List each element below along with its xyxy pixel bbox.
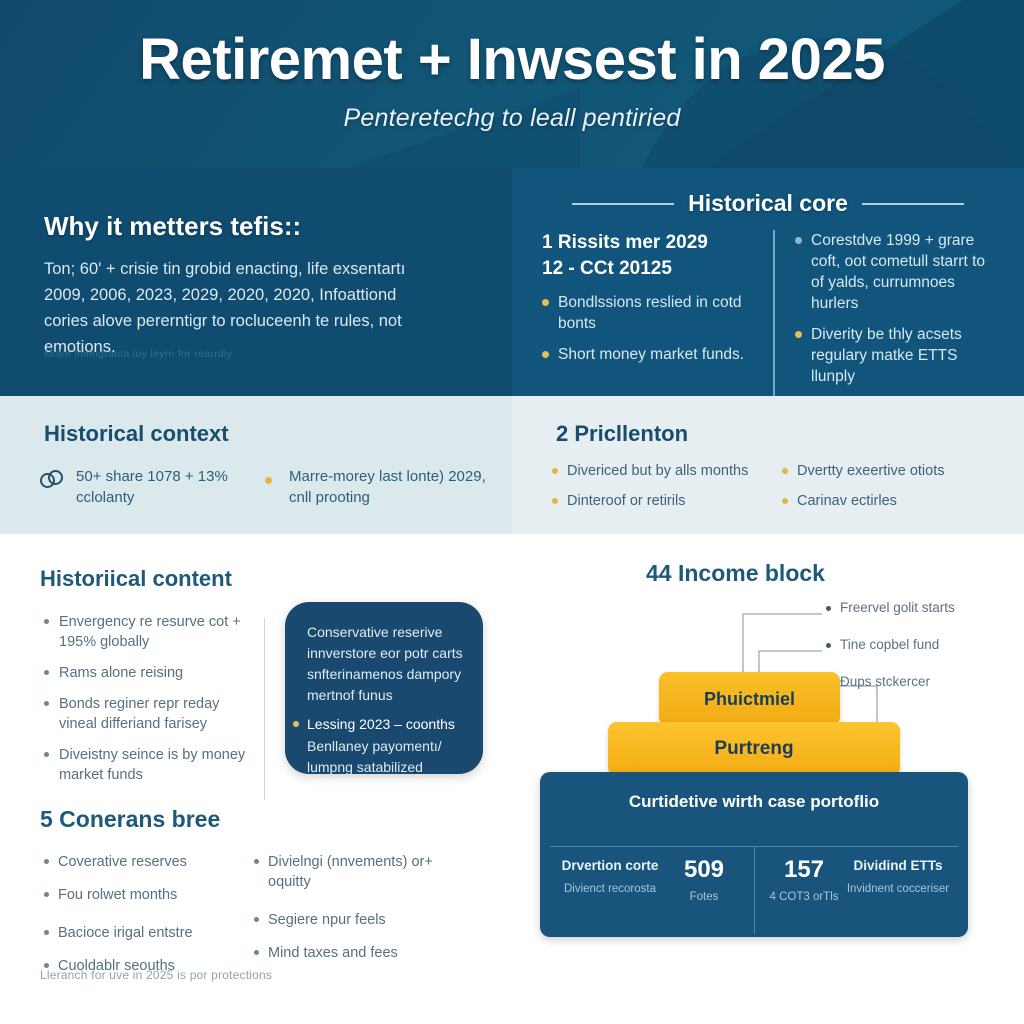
list-item: Diveistny seince is by money market fund…: [44, 745, 249, 785]
conservative-reserve-card: Conservative reserive innverstore eor po…: [285, 602, 483, 774]
core-right-bullet-0: Diverity be thly acsets regulary matke E…: [811, 324, 1002, 387]
vertical-divider: [264, 618, 265, 800]
conerans-right-1: Segiere npur feels: [268, 910, 386, 930]
stat-label-0: Drvertion corte Divienct recorosta: [554, 856, 666, 897]
conerans-heading: 5 Conerans bree: [40, 806, 220, 833]
stat-block-1: Dividind ETTs Invidnent cocceriser 157 4…: [754, 856, 968, 905]
historical-core-title: Historical core: [688, 190, 848, 217]
bullet-dot-icon: [795, 331, 802, 338]
bullet-dot-icon: [44, 930, 49, 935]
callout-2: Đups stckercer: [826, 674, 1024, 711]
core-left-bullet-1: Short money market funds.: [558, 344, 744, 365]
bullet-dot-icon: [254, 917, 259, 922]
historical-core-header: Historical core: [512, 190, 1024, 217]
why-note: Moke Immigranta luy leyrn for rearrdiy: [44, 348, 434, 360]
precllenton-panel: 2 Pricllenton Divericed but by alls mont…: [512, 396, 1024, 534]
list-item: Fou rolwet months: [44, 885, 240, 905]
historical-content-heading: Historiical content: [40, 566, 232, 592]
precllenton-heading: 2 Pricllenton: [556, 421, 688, 447]
callout-label-0: Freervel golit starts: [840, 600, 955, 615]
stat-value-sub-1: 4 COT3 orTls: [766, 890, 842, 905]
precllenton-left-0: Divericed but by alls months: [567, 462, 748, 481]
list-item: Diverity be thly acsets regulary matke E…: [795, 324, 1002, 387]
pyramid-block-middle: Purtreng: [608, 722, 900, 776]
bullet-dot-icon: [782, 468, 788, 474]
navy-card-tail: Benllaney payomentı/ lumpng satabilized: [307, 736, 475, 778]
hcontent-bullet-1: Rams alone reising: [59, 663, 183, 683]
conerans-left-2: Bacioce irigal entstre: [58, 923, 193, 943]
core-left-line1: 1 Rissits mer 2029: [542, 230, 763, 256]
stat-label-text-0: Drvertion corte: [562, 858, 659, 873]
bullet-dot-icon: [826, 606, 831, 611]
bullet-dot-icon: [552, 468, 558, 474]
historical-context-heading: Historical context: [44, 421, 229, 447]
bullet-dot-icon: [293, 721, 299, 727]
bullet-dot-icon: [254, 950, 259, 955]
dark-section-row: Why it metters tefis:: Ton; 60' + crisie…: [0, 168, 1024, 396]
pyramid-callouts: Freervel golit starts Tine copbel fund Đ…: [826, 600, 1024, 711]
bullet-dot-icon: [795, 237, 802, 244]
bullet-dot-icon: [265, 470, 279, 492]
bullet-dot-icon: [552, 498, 558, 504]
precllenton-left-1: Dinteroof or retirils: [567, 492, 685, 511]
why-body: Ton; 60' + crisie tin grobid enacting, l…: [44, 256, 444, 360]
context-right-text: Marre-morey last lonte) 2029, cnll proot…: [289, 466, 490, 508]
infographic-page: Retiremet + Inwsest in 2025 Penteretechg…: [0, 0, 1024, 1024]
historical-context-columns: 50+ share 1078 + 13% cclolanty Marre-mor…: [40, 466, 490, 508]
bullet-dot-icon: [542, 351, 549, 358]
bullet-dot-icon: [44, 619, 49, 624]
bullet-dot-icon: [826, 643, 831, 648]
footer-note: Lleranch for uve in 2025 is por protecti…: [40, 968, 272, 982]
list-item: Coverative reserves: [44, 852, 240, 872]
overlapping-circles-icon: [40, 470, 66, 492]
list-item: Dinteroof or retirils: [552, 492, 782, 511]
pyramid-block-base: Curtidetive wirth case portoflio Drverti…: [540, 772, 968, 937]
hcontent-bullet-3: Diveistny seince is by money market fund…: [59, 745, 249, 785]
light-band-row: Historical context 50+ share 1078 + 13% …: [0, 396, 1024, 534]
bullet-dot-icon: [44, 892, 49, 897]
bullet-dot-icon: [44, 701, 49, 706]
stat-value-text-0: 509: [684, 856, 724, 883]
precllenton-right-1: Carinav ectirles: [797, 492, 897, 511]
bullet-dot-icon: [782, 498, 788, 504]
precllenton-col-right: Dvertty exeertive otiots Carinav ectirle…: [782, 462, 1012, 522]
navy-card-block: Conservative reserive innverstore eor po…: [307, 622, 469, 706]
list-item: Bonds reginer repr reday vineal differia…: [44, 694, 249, 734]
stat-value-1: 157 4 COT3 orTls: [766, 856, 842, 905]
stat-label-sub-0: Divienct recorosta: [554, 882, 666, 897]
stat-value-0: 509 Fotes: [666, 856, 742, 905]
stat-label-sub-1: Invidnent cocceriser: [842, 882, 954, 897]
context-left-text: 50+ share 1078 + 13% cclolanty: [76, 466, 265, 508]
pyramid-stats: Drvertion corte Divienct recorosta 509 F…: [540, 856, 968, 905]
list-item: Divericed but by alls months: [552, 462, 782, 481]
bullet-dot-icon: [254, 859, 259, 864]
navy-card-bullet-row: Lessing 2023 – coonths: [293, 714, 473, 735]
historical-core-panel: Historical core 1 Rissits mer 2029 12 - …: [512, 168, 1024, 396]
stat-value-text-1: 157: [784, 856, 824, 883]
navy-card-bullet: Lessing 2023 – coonths: [307, 714, 455, 735]
callout-1: Tine copbel fund: [826, 637, 1024, 674]
list-item: Short money market funds.: [542, 344, 763, 365]
precllenton-columns: Divericed but by alls months Dinteroof o…: [552, 462, 1012, 522]
stat-label-text-1: Dividind ETTs: [853, 858, 942, 873]
stat-block-0: Drvertion corte Divienct recorosta 509 F…: [540, 856, 754, 905]
list-item: Carinav ectirles: [782, 492, 1012, 511]
why-it-matters-panel: Why it metters tefis:: Ton; 60' + crisie…: [0, 168, 512, 396]
pyramid-block-top: Phuictmiel: [659, 672, 840, 726]
why-heading: Why it metters tefis::: [44, 211, 301, 242]
core-left-bullet-0: Bondlssions reslied in cotd bonts: [558, 292, 763, 334]
list-item: Mind taxes and fees: [254, 943, 450, 963]
bullet-dot-icon: [44, 752, 49, 757]
conerans-right-2: Mind taxes and fees: [268, 943, 398, 963]
hcontent-bullet-0: Envergency re resurve cot + 195% globall…: [59, 612, 249, 652]
page-subtitle: Penteretechg to leall pentiried: [0, 104, 1024, 133]
callout-0: Freervel golit starts: [826, 600, 1024, 637]
page-title: Retiremet + Inwsest in 2025: [0, 26, 1024, 93]
precllenton-col-left: Divericed but by alls months Dinteroof o…: [552, 462, 782, 522]
pyramid-base-title: Curtidetive wirth case portoflio: [540, 790, 968, 814]
income-block-heading: 44 Income block: [646, 560, 825, 587]
list-item: Dvertty exeertive otiots: [782, 462, 1012, 481]
list-item: Corestdve 1999 + grare coft, oot cometul…: [795, 230, 1002, 314]
context-stat-right: Marre-morey last lonte) 2029, cnll proot…: [265, 466, 490, 508]
bullet-dot-icon: [44, 670, 49, 675]
rule-left-icon: [572, 203, 674, 205]
conerans-right-0: Divielngi (nnvements) or+ oquitty: [268, 852, 450, 892]
list-item: Segiere npur feels: [254, 910, 450, 930]
stat-value-sub-0: Fotes: [666, 890, 742, 905]
hcontent-bullet-2: Bonds reginer repr reday vineal differia…: [59, 694, 249, 734]
list-item: Bacioce irigal entstre: [44, 923, 240, 943]
rule-right-icon: [862, 203, 964, 205]
bullet-dot-icon: [542, 299, 549, 306]
list-item: Divielngi (nnvements) or+ oquitty: [254, 852, 450, 892]
historical-content-list: Envergency re resurve cot + 195% globall…: [44, 612, 249, 796]
conerans-col-right: Divielngi (nnvements) or+ oquitty Segier…: [254, 852, 464, 989]
core-left-numbers: 1 Rissits mer 2029 12 - CCt 20125: [542, 230, 763, 282]
core-left-line2: 12 - CCt 20125: [542, 256, 763, 282]
list-item: Rams alone reising: [44, 663, 249, 683]
bullet-dot-icon: [44, 859, 49, 864]
context-stat-left: 50+ share 1078 + 13% cclolanty: [40, 466, 265, 508]
stat-label-1: Dividind ETTs Invidnent cocceriser: [842, 856, 954, 897]
conerans-left-0: Coverative reserves: [58, 852, 187, 872]
core-right-lead: Corestdve 1999 + grare coft, oot cometul…: [811, 230, 1002, 314]
historical-context-panel: Historical context 50+ share 1078 + 13% …: [0, 396, 512, 534]
list-item: Bondlssions reslied in cotd bonts: [542, 292, 763, 334]
conerans-left-1: Fou rolwet months: [58, 885, 177, 905]
callout-label-1: Tine copbel fund: [840, 637, 939, 652]
list-item: Envergency re resurve cot + 195% globall…: [44, 612, 249, 652]
callout-label-2: Đups stckercer: [840, 674, 930, 689]
header-banner: Retiremet + Inwsest in 2025 Penteretechg…: [0, 0, 1024, 168]
precllenton-right-0: Dvertty exeertive otiots: [797, 462, 944, 481]
